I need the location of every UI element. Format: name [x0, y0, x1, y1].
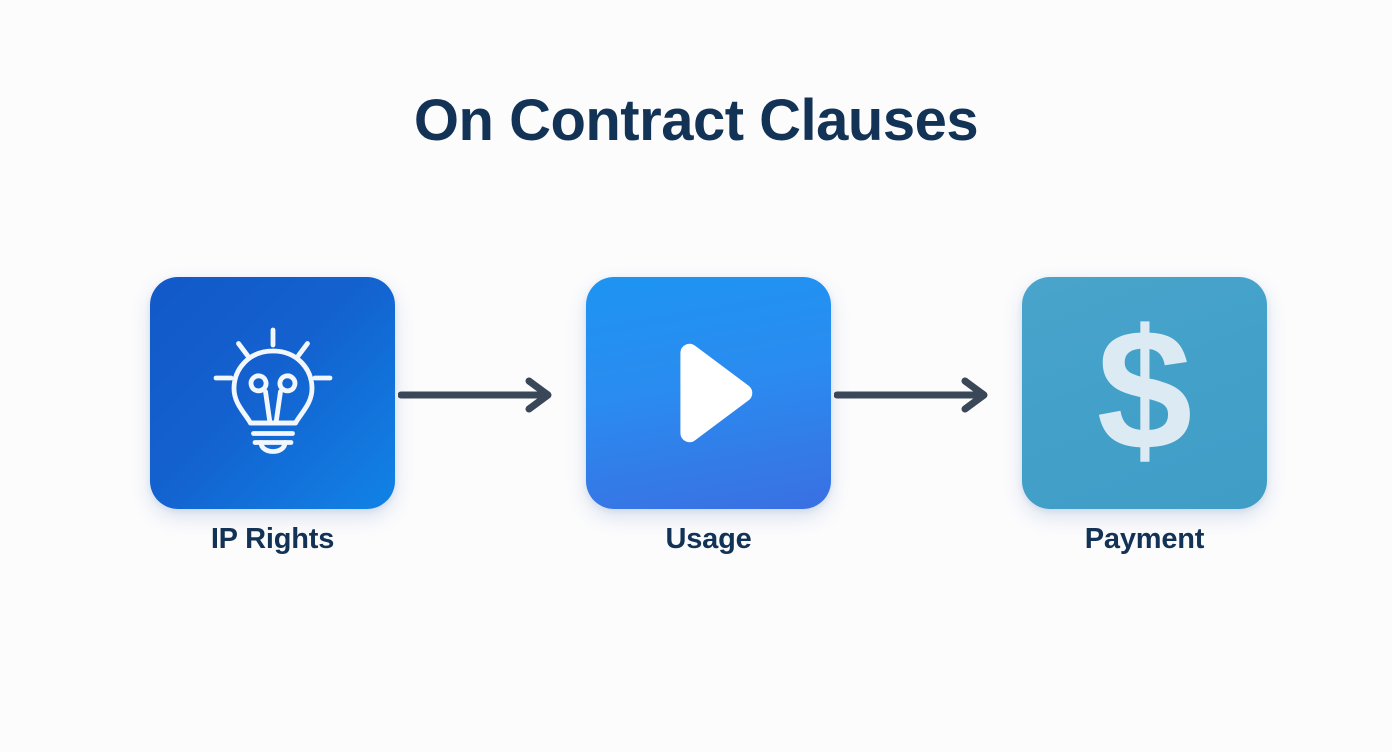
flow-step-tile-1[interactable]	[150, 277, 395, 509]
flow-step-usage[interactable]: Usage	[586, 277, 831, 509]
flow-connector-2	[834, 376, 1004, 414]
flow-step-tile-2[interactable]	[586, 277, 831, 509]
flow-step-label-2: Usage	[586, 523, 831, 556]
flow-step-payment[interactable]: $ Payment	[1022, 277, 1267, 509]
flow-step-ip-rights[interactable]: IP Rights	[150, 277, 395, 509]
play-icon	[644, 328, 774, 458]
process-flow-diagram: IP Rights Usage	[150, 277, 1267, 567]
flow-step-label-3: Payment	[1022, 523, 1267, 556]
flow-step-label-1: IP Rights	[150, 523, 395, 556]
dollar-icon: $	[1097, 304, 1193, 476]
flow-step-tile-3[interactable]: $	[1022, 277, 1267, 509]
arrow-right-icon	[398, 401, 568, 418]
flow-connector-1	[398, 376, 568, 414]
arrow-right-icon	[834, 401, 1004, 418]
lightbulb-icon	[198, 318, 348, 468]
page-title: On Contract Clauses	[0, 92, 1392, 150]
